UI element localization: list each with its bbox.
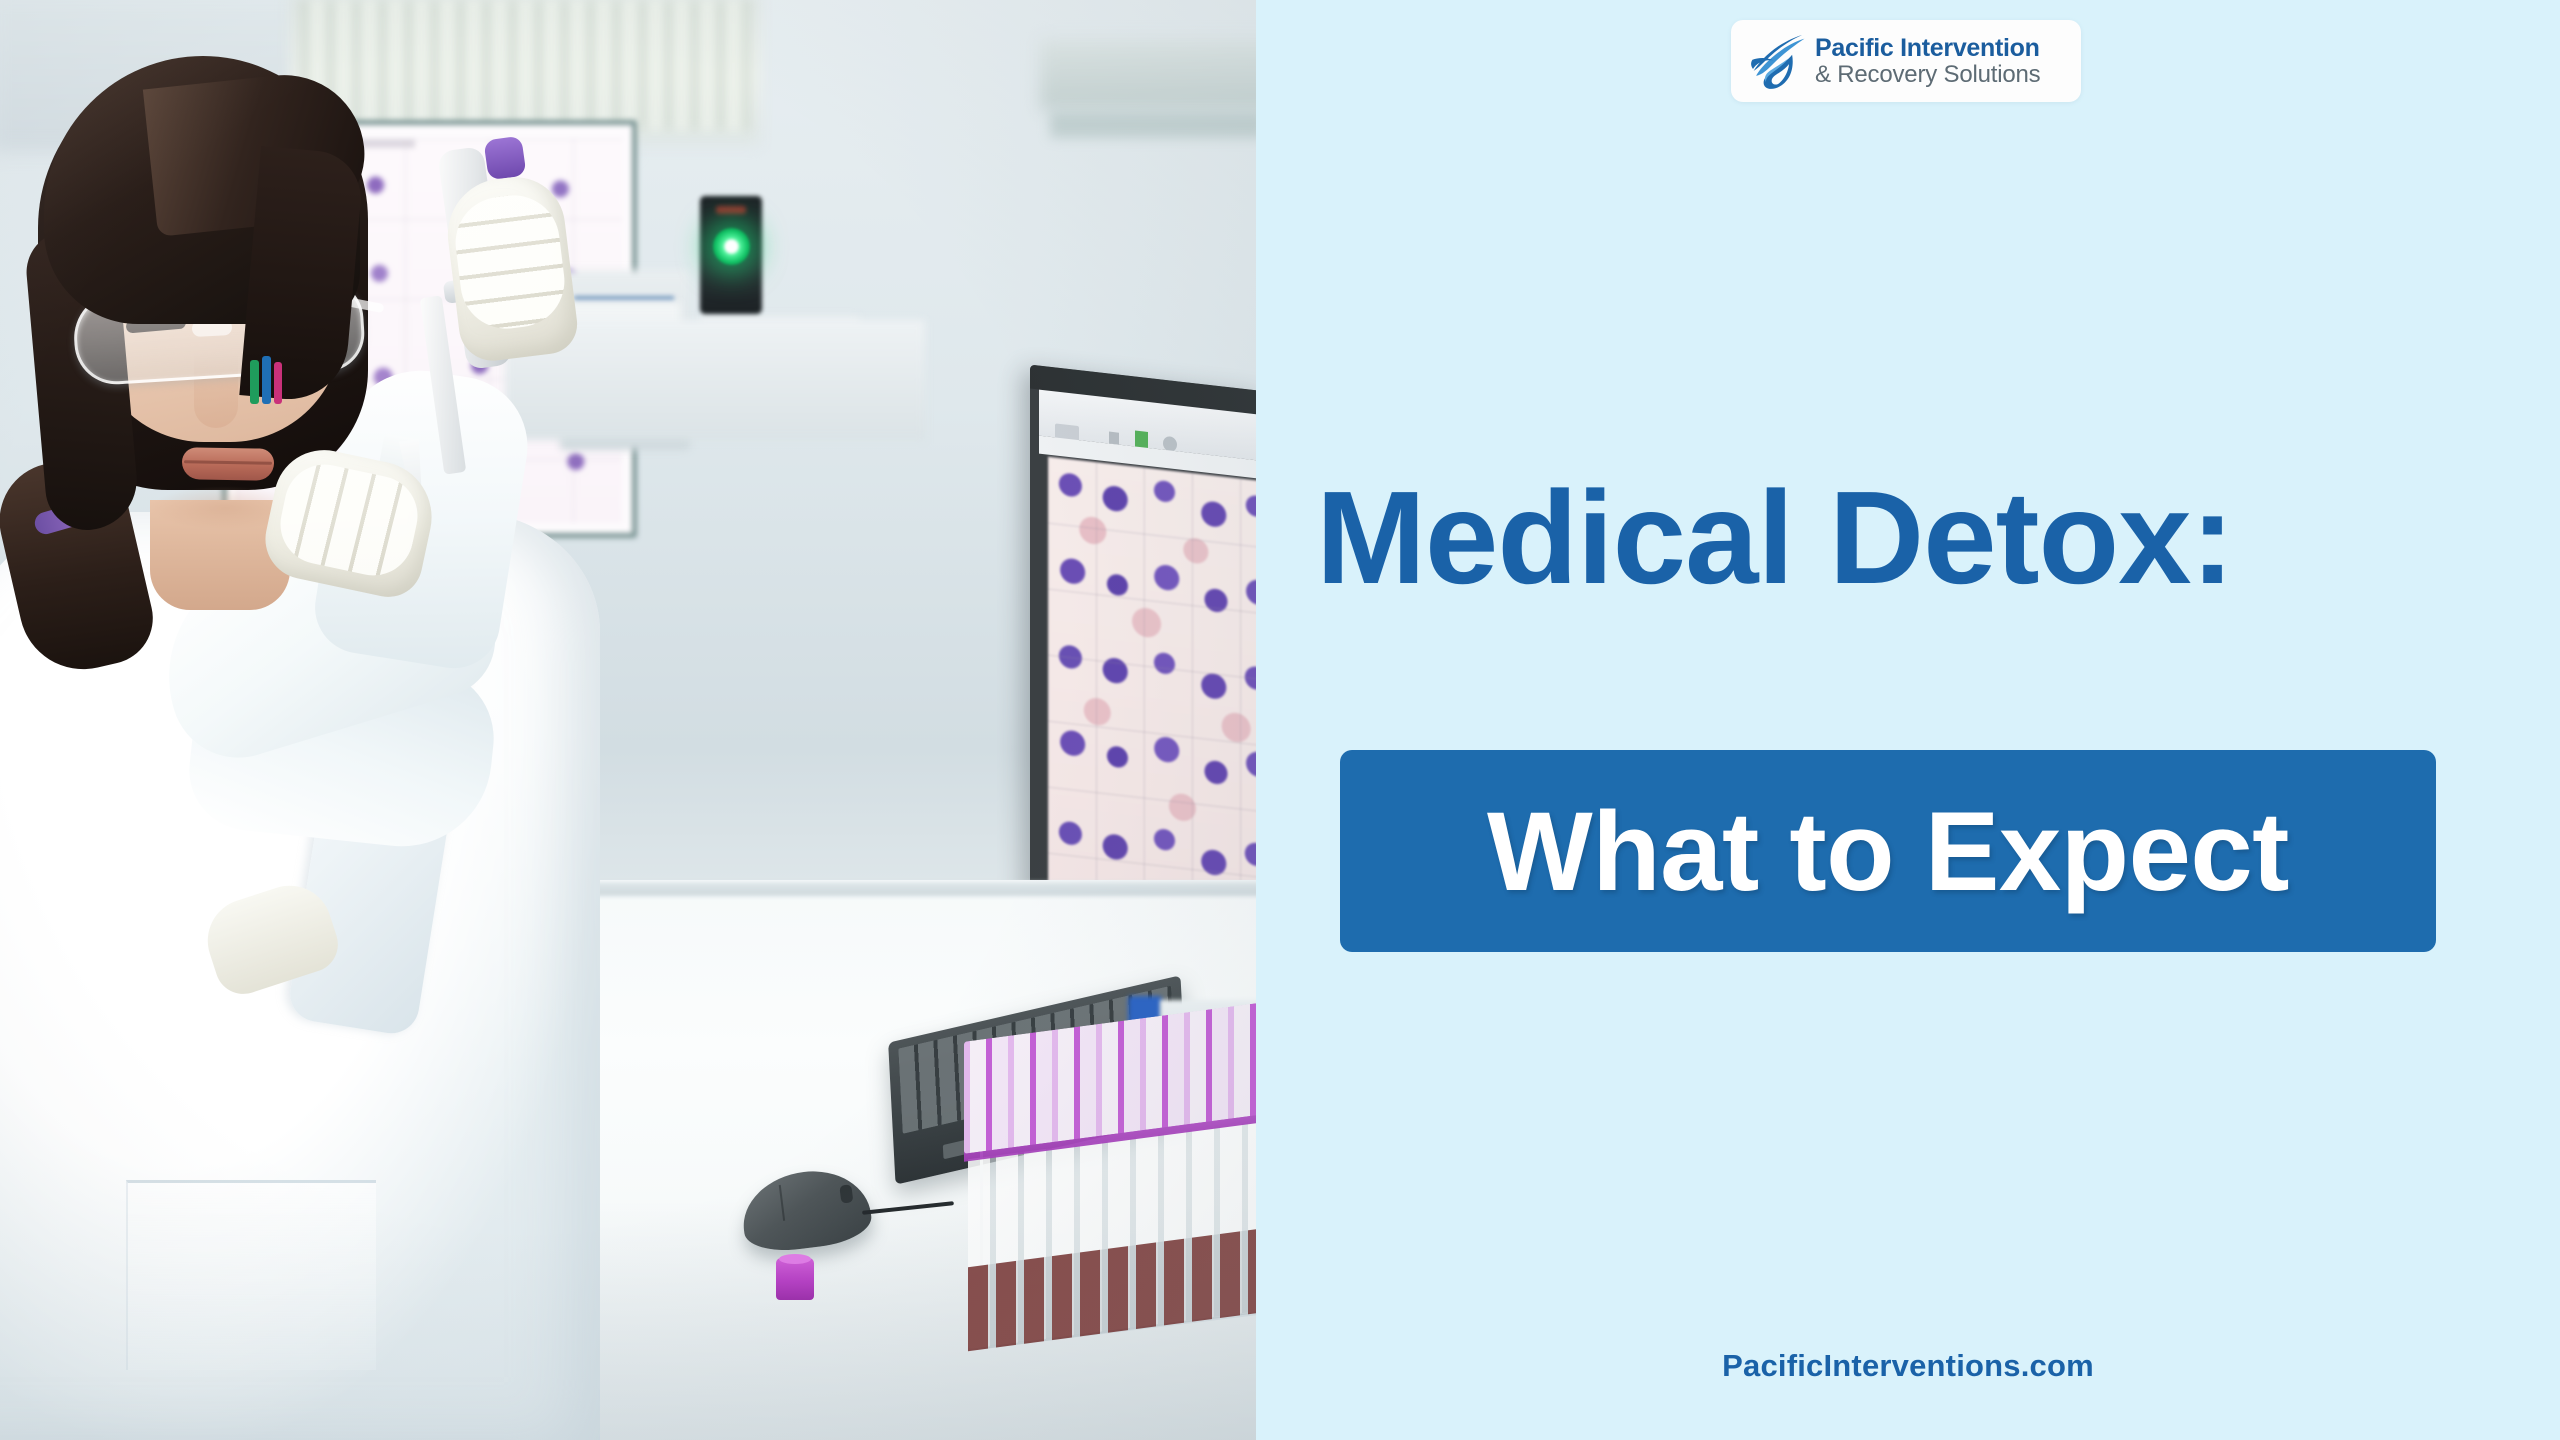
- pocket-pen-pink: [274, 362, 282, 404]
- brand-logo-text: Pacific Intervention & Recovery Solution…: [1815, 35, 2040, 87]
- marketing-banner: Pacific Intervention & Recovery Solution…: [0, 0, 2560, 1440]
- cta-label: What to Expect: [1487, 787, 2289, 916]
- pacific-wave-logo-icon: [1745, 30, 1807, 92]
- mouse-button-split: [779, 1185, 785, 1221]
- purple-tube-cap: [776, 1258, 814, 1300]
- lab-machine-accent: [574, 296, 674, 301]
- lab-coat-pocket: [126, 1180, 376, 1370]
- mouse-wheel: [839, 1184, 853, 1203]
- cta-banner[interactable]: What to Expect: [1340, 750, 2436, 952]
- instrument-green-led-icon: [713, 228, 750, 265]
- ceiling-bars: [300, 0, 750, 130]
- app-tool-icon: [1109, 432, 1119, 445]
- content-panel: Pacific Intervention & Recovery Solution…: [1256, 0, 2560, 1440]
- instrument-red-led-icon: [716, 206, 746, 214]
- brand-logo-card[interactable]: Pacific Intervention & Recovery Solution…: [1731, 20, 2081, 102]
- pocket-pen-blue: [262, 356, 271, 404]
- page-title: Medical Detox:: [1316, 472, 2536, 604]
- blood-cell-grid-image: [1048, 457, 1256, 913]
- brand-name-secondary: & Recovery Solutions: [1815, 62, 2040, 87]
- background-shelf: [1040, 40, 1256, 110]
- brand-name-primary: Pacific Intervention: [1815, 35, 2040, 62]
- website-url[interactable]: PacificInterventions.com: [1256, 1348, 2560, 1384]
- hero-photo: [0, 0, 1256, 1440]
- pocket-pen-green: [250, 360, 259, 404]
- pipette-plunger: [483, 136, 526, 181]
- background-shelf-lower: [1050, 112, 1256, 138]
